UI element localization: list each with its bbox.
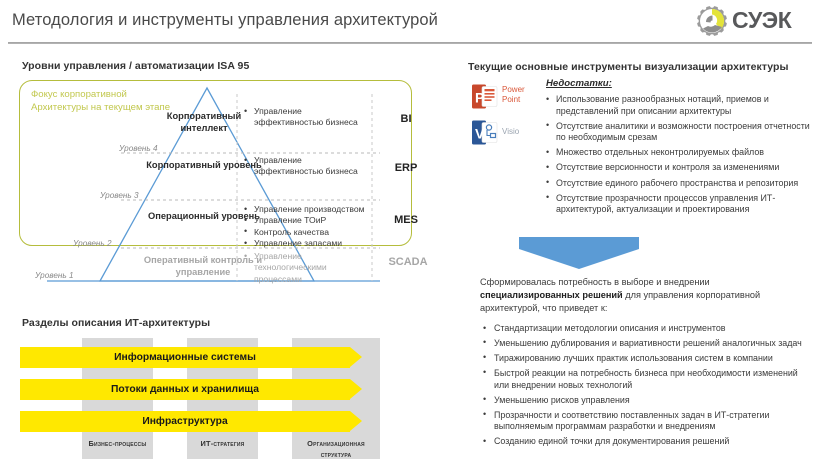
it-sections-heading: Разделы описания ИТ-архитектуры	[22, 317, 210, 329]
company-logo: СУЭК	[696, 4, 812, 38]
list-item: Отсутствие версионности и контроля за из…	[544, 162, 812, 174]
isa95-heading: Уровни управления / автоматизации ISA 95	[22, 60, 249, 72]
band-label: Инфраструктура	[20, 411, 350, 432]
suek-gear-logo-icon	[696, 5, 728, 37]
list-item: Отсутствие аналитики и возможности постр…	[544, 121, 812, 144]
isa-level-2-bullets: Управление производством Управление ТОиР…	[243, 204, 378, 250]
svg-text:V: V	[475, 126, 485, 142]
band-label: Потоки данных и хранилища	[20, 379, 350, 400]
list-item: Стандартизации методологии описания и ин…	[480, 323, 812, 335]
band-arrow-tip	[350, 347, 362, 367]
powerpoint-label: Power Point	[502, 85, 525, 104]
tools-heading: Текущие основные инструменты визуализаци…	[468, 61, 789, 73]
list-item: Быстрой реакции на потребность бизнеса п…	[480, 368, 812, 391]
conclusion-bold: специализированных решений	[480, 290, 623, 300]
list-item: Отсутствие единого рабочего пространства…	[544, 178, 812, 190]
band-information-systems: Информационные системы	[20, 347, 350, 368]
isa-level-2-tick: Уровень 2	[73, 239, 112, 248]
isa-level-4-tick: Уровень 4	[119, 144, 158, 153]
isa-level-4-bullets: Управление эффективностью бизнеса	[243, 106, 363, 129]
isa-level-3-tick: Уровень 3	[100, 191, 139, 200]
foot-box-business-processes: Бизнес-процессы	[82, 433, 153, 459]
list-item: Управление запасами	[243, 238, 378, 249]
list-item: Тиражированию лучших практик использован…	[480, 353, 812, 365]
isa-level-1-system: SCADA	[376, 256, 440, 268]
foot-label: ИТ-стратегия	[187, 438, 258, 449]
isa-level-4-system: BI	[376, 113, 436, 125]
list-item: Уменьшению дублирования и вариативности …	[480, 338, 812, 350]
list-item: Управление эффективностью бизнеса	[243, 155, 363, 178]
it-architecture-sections-diagram: Информационные системы Потоки данных и х…	[14, 334, 460, 456]
list-item: Управление ТОиР	[243, 215, 378, 226]
foot-label: Организационная структура	[292, 438, 380, 459]
list-item: Созданию единой точки для документирован…	[480, 436, 812, 448]
app-icon-list: P Power Point V	[472, 83, 544, 155]
band-arrow-tip	[350, 379, 362, 399]
isa-level-1-bullets: Управление технологическими процессами	[243, 251, 358, 285]
flaws-list: Использование разнообразных нотаций, при…	[544, 94, 812, 219]
logo-wordmark: СУЭК	[732, 7, 792, 34]
foot-box-org-structure: Организационная структура	[292, 433, 380, 459]
slide-header: Методология и инструменты управления арх…	[0, 0, 820, 46]
visio-label: Visio	[502, 127, 519, 137]
isa95-pyramid-diagram: Фокус корпоративной Архитектуры на текущ…	[14, 76, 460, 304]
foot-label: Бизнес-процессы	[82, 438, 153, 449]
list-item: Управление производством	[243, 204, 378, 215]
conclusion-prefix: Сформировалась потребность в выборе и вн…	[480, 277, 710, 287]
band-arrow-tip	[350, 411, 362, 431]
svg-text:P: P	[475, 90, 484, 106]
band-data-flows: Потоки данных и хранилища	[20, 379, 350, 400]
flaws-title: Недостатки:	[546, 78, 612, 89]
band-label: Информационные системы	[20, 347, 350, 368]
app-row-visio: V Visio	[472, 119, 544, 149]
isa-level-2-system: MES	[376, 214, 436, 226]
powerpoint-icon: P	[472, 83, 498, 110]
benefits-list: Стандартизации методологии описания и ин…	[480, 323, 812, 451]
app-row-powerpoint: P Power Point	[472, 83, 544, 113]
list-item: Управление технологическими процессами	[243, 251, 358, 285]
down-chevron-arrow-icon	[519, 237, 639, 269]
page-title: Методология и инструменты управления арх…	[12, 11, 438, 30]
list-item: Управление эффективностью бизнеса	[243, 106, 363, 129]
list-item: Использование разнообразных нотаций, при…	[544, 94, 812, 117]
visio-icon: V	[472, 119, 498, 146]
foot-box-it-strategy: ИТ-стратегия	[187, 433, 258, 459]
band-infrastructure: Инфраструктура	[20, 411, 350, 432]
isa-level-1-tick: Уровень 1	[35, 271, 74, 280]
list-item: Уменьшению рисков управления	[480, 395, 812, 407]
header-divider	[8, 42, 812, 44]
list-item: Контроль качества	[243, 227, 378, 238]
conclusion-text: Сформировалась потребность в выборе и вн…	[480, 276, 810, 316]
isa-level-3-bullets: Управление эффективностью бизнеса	[243, 155, 363, 178]
list-item: Отсутствие прозрачности процессов управл…	[544, 193, 812, 216]
isa-level-3-system: ERP	[376, 162, 436, 174]
list-item: Прозрачности и соответствию поставленных…	[480, 410, 812, 433]
slide-root: Методология и инструменты управления арх…	[0, 0, 820, 459]
list-item: Множество отдельных неконтролируемых фай…	[544, 147, 812, 159]
